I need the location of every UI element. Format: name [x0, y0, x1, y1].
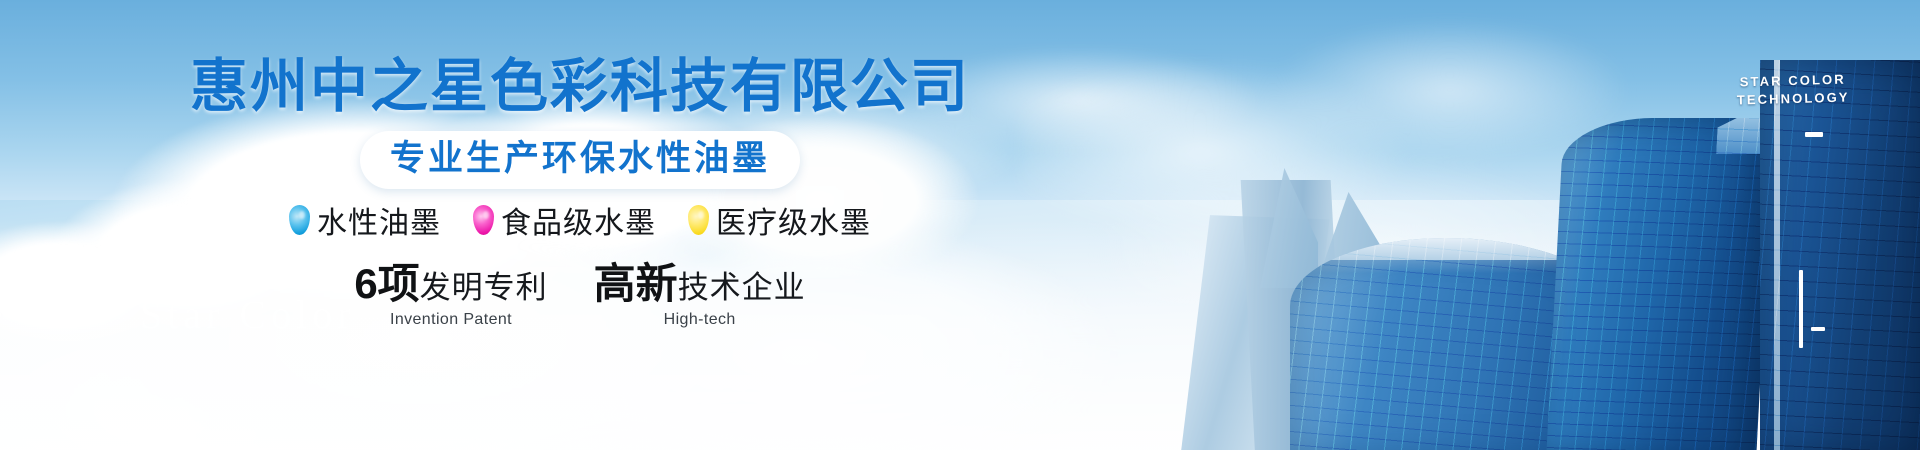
building-marker-1	[1805, 132, 1823, 137]
building-window-grid	[1760, 60, 1920, 450]
feature-label: 食品级水墨	[501, 198, 656, 242]
banner-content: 惠州中之星色彩科技有限公司 专业生产环保水性油墨 水性油墨 食品级水墨 医疗级水…	[0, 0, 1160, 450]
star-color-technology-plate: STAR COLOR TECHNOLOGY	[1703, 70, 1884, 110]
company-banner: Star Color STAR COLOR TECHNOLOGY 惠州中之星色彩…	[0, 0, 1920, 450]
skyscraper-photo	[1160, 0, 1920, 450]
tagline-text: 专业生产环保水性油墨	[390, 140, 770, 178]
credential-badges: 6项 发明专利 Invention Patent 高新 技术企业 High-te…	[0, 262, 1160, 329]
feature-list: 水性油墨 食品级水墨 医疗级水墨	[0, 198, 1160, 242]
water-drop-icon	[289, 205, 310, 235]
feature-label: 医疗级水墨	[716, 198, 871, 242]
water-drop-icon	[688, 205, 709, 235]
badge-english-text: Invention Patent	[354, 311, 547, 329]
badge-line: 高新 技术企业	[594, 262, 806, 306]
badge-strong-text: 6项	[354, 262, 419, 306]
feature-item: 食品级水墨	[473, 198, 656, 242]
building-tall-main	[1546, 118, 1774, 450]
feature-item: 医疗级水墨	[688, 198, 871, 242]
feature-item: 水性油墨	[289, 198, 441, 242]
badge-english-text: High-tech	[594, 311, 806, 329]
building-window-grid	[1546, 118, 1774, 450]
building-marker-3	[1799, 270, 1803, 348]
company-title: 惠州中之星色彩科技有限公司	[0, 58, 1160, 116]
building-right-edge	[1760, 60, 1920, 450]
water-drop-icon	[473, 205, 494, 235]
badge-invention-patent: 6项 发明专利 Invention Patent	[354, 262, 547, 329]
badge-rest-text: 技术企业	[678, 272, 806, 305]
feature-label: 水性油墨	[317, 198, 441, 242]
badge-high-tech: 高新 技术企业 High-tech	[594, 262, 806, 329]
badge-strong-text: 高新	[594, 262, 678, 306]
tagline-pill: 专业生产环保水性油墨	[360, 131, 800, 189]
badge-rest-text: 发明专利	[420, 272, 548, 305]
badge-line: 6项 发明专利	[354, 262, 547, 306]
building-marker-2	[1811, 327, 1825, 331]
